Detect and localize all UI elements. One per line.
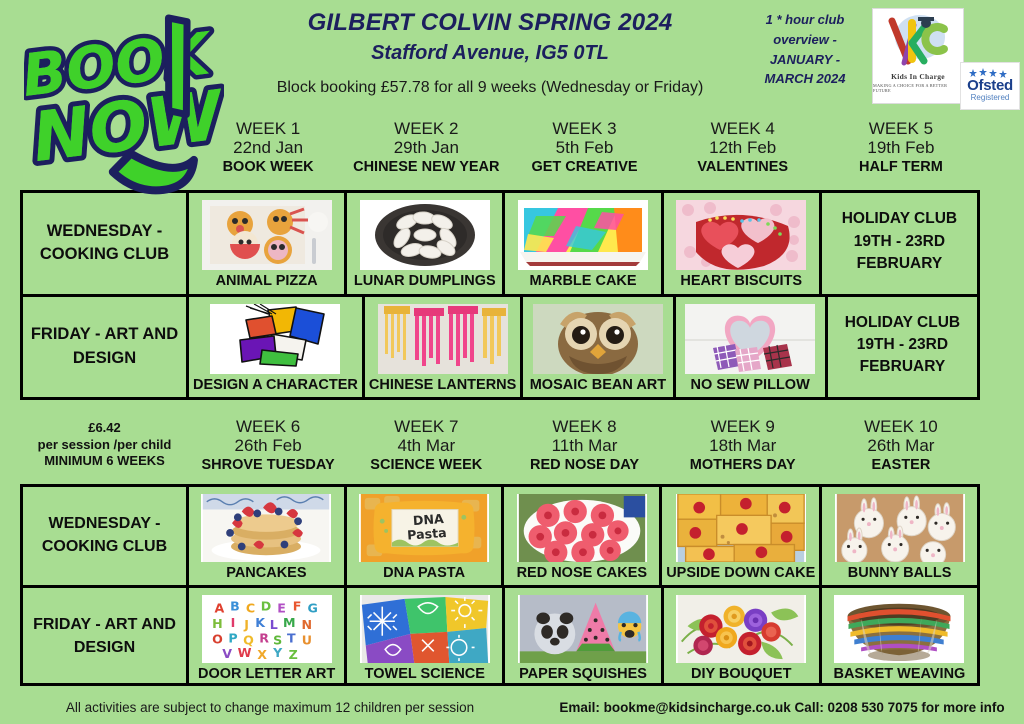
activity-caption: RED NOSE CAKES [517,566,648,582]
svg-text:J: J [243,617,249,632]
week-date: 4th Mar [347,436,505,455]
overview-line-3: JANUARY - [745,50,865,70]
day-label-wednesday: WEDNESDAY - COOKING CLUB [23,193,189,294]
svg-text:W: W [237,645,251,660]
animal-pizza-image [202,200,332,270]
pricing-info: £6.42 per session /per child MINIMUM 6 W… [20,417,189,473]
activity-caption: UPSIDE DOWN CAKE [666,566,815,582]
table-row-friday-2: FRIDAY - ART AND DESIGN AB CD EF G HI JK… [23,588,977,686]
upside-down-cake-image [676,494,806,562]
towel-science-image [360,595,490,663]
week-number: WEEK 10 [822,417,980,436]
week-date: 18th Mar [664,436,822,455]
kic-logo-name: Kids In Charge [891,72,945,81]
activity-cell-pancakes[interactable]: PANCAKES [189,487,347,585]
week-theme: HALF TERM [822,159,980,175]
week-date: 29th Jan [347,138,505,157]
marble-cake-image [518,200,648,270]
block-booking-note: Block booking £57.78 for all 9 weeks (We… [240,78,740,99]
week-theme: EASTER [822,457,980,473]
week-theme: GET CREATIVE [505,159,663,175]
footer-disclaimer: All activities are subject to change max… [0,700,540,715]
svg-text:C: C [245,600,254,615]
paper-squishes-image [518,595,648,663]
price-minimum: MINIMUM 6 WEEKS [20,453,189,470]
activity-cell-dna-pasta[interactable]: DNA Pasta DNA PASTA [347,487,505,585]
activity-cell-bunny-balls[interactable]: BUNNY BALLS [822,487,977,585]
table-row-wednesday-2: WEDNESDAY - COOKING CLUB [23,487,977,588]
svg-text:H: H [212,616,223,631]
week-header-4: WEEK 4 12th Feb VALENTINES [664,119,822,175]
diy-bouquet-image [676,595,806,663]
week-number: WEEK 4 [664,119,822,138]
week-number: WEEK 7 [347,417,505,436]
design-a-character-image [210,304,340,374]
ofsted-registered-label: Registered [971,93,1010,103]
svg-text:G: G [307,600,317,615]
activity-cell-mosaic-bean-art[interactable]: MOSAIC BEAN ART [523,297,675,398]
activity-cell-paper-squishes[interactable]: PAPER SQUISHES [505,588,663,686]
svg-text:B: B [230,598,240,613]
svg-text:M: M [283,615,296,630]
pancakes-image [201,494,331,562]
week-theme: VALENTINES [664,159,822,175]
week-number: WEEK 2 [347,119,505,138]
svg-text:N: N [301,617,312,632]
dna-pasta-image: DNA Pasta [359,494,489,562]
door-letter-art-image: AB CD EF G HI JK LM N OP QR ST U VW XY [202,595,332,663]
activity-caption: PAPER SQUISHES [519,667,647,683]
svg-text:V: V [222,646,232,661]
bunny-balls-image [835,494,965,562]
no-sew-pillow-image [685,304,815,374]
week-theme: RED NOSE DAY [505,457,663,473]
week-number: WEEK 8 [505,417,663,436]
activity-caption: DOOR LETTER ART [198,667,335,683]
heart-biscuits-image [676,200,806,270]
activity-caption: PANCAKES [226,566,306,582]
footer-contact: Email: bookme@kidsincharge.co.uk Call: 0… [540,700,1024,715]
holiday-club-cell-wednesday: HOLIDAY CLUB 19TH - 23RD FEBRUARY [822,193,977,294]
activity-caption: CHINESE LANTERNS [369,378,516,394]
schedule-table-block-2: WEDNESDAY - COOKING CLUB [20,484,980,686]
svg-text:E: E [277,600,286,615]
svg-text:Pasta: Pasta [407,525,447,543]
overview-note: 1 * hour club overview - JANUARY - MARCH… [745,10,865,89]
svg-text:X: X [257,647,267,662]
schedule-table-block-1: WEDNESDAY - COOKING CLUB [20,190,980,400]
red-nose-cakes-image [517,494,647,562]
activity-caption: ANIMAL PIZZA [216,274,318,290]
kids-in-charge-logo: Kids In Charge MAKING A CHOICE FOR A BET… [872,8,964,104]
table-row-friday-1: FRIDAY - ART AND DESIGN [23,297,977,398]
overview-line-2: overview - [745,30,865,50]
activity-caption: MARBLE CAKE [529,274,636,290]
activity-caption: DIY BOUQUET [691,667,791,683]
header-title-block: GILBERT COLVIN SPRING 2024 Stafford Aven… [240,8,740,99]
activity-cell-towel-science[interactable]: TOWEL SCIENCE [347,588,505,686]
week-theme: SHROVE TUESDAY [189,457,347,473]
week-date: 11th Mar [505,436,663,455]
svg-text:P: P [228,631,237,646]
week-number: WEEK 6 [189,417,347,436]
week-theme: CHINESE NEW YEAR [347,159,505,175]
activity-cell-basket-weaving[interactable]: BASKET WEAVING [822,588,977,686]
holiday-club-cell-friday: HOLIDAY CLUB 19TH - 23RD FEBRUARY [828,297,977,398]
week-theme: SCIENCE WEEK [347,457,505,473]
mosaic-bean-art-image [533,304,663,374]
week-header-7: WEEK 7 4th Mar SCIENCE WEEK [347,417,505,473]
activity-cell-design-a-character[interactable]: DESIGN A CHARACTER [189,297,365,398]
week-header-2: WEEK 2 29th Jan CHINESE NEW YEAR [347,119,505,175]
activity-cell-upside-down-cake[interactable]: UPSIDE DOWN CAKE [662,487,822,585]
page-subtitle: Stafford Avenue, IG5 0TL [240,39,740,68]
footer: All activities are subject to change max… [0,700,1024,715]
activity-cell-red-nose-cakes[interactable]: RED NOSE CAKES [504,487,662,585]
activity-cell-marble-cake[interactable]: MARBLE CAKE [505,193,663,294]
activity-caption: MOSAIC BEAN ART [530,378,666,394]
week-theme: MOTHERS DAY [664,457,822,473]
ofsted-registered-badge: Ofsted Registered [960,62,1020,110]
chinese-lanterns-image [378,304,508,374]
svg-text:U: U [301,632,311,647]
activity-cell-lunar-dumplings[interactable]: LUNAR DUMPLINGS [347,193,505,294]
activity-caption: HEART BISCUITS [680,274,802,290]
svg-text:K: K [255,615,266,630]
table-row-wednesday-1: WEDNESDAY - COOKING CLUB [23,193,977,297]
price-per: per session /per child [20,437,189,454]
basket-weaving-image [834,595,964,663]
activity-caption: BASKET WEAVING [833,667,965,683]
svg-text:I: I [230,615,235,630]
price-amount: £6.42 [20,420,189,437]
svg-text:F: F [292,598,301,613]
week-header-6: WEEK 6 26th Feb SHROVE TUESDAY [189,417,347,473]
activity-caption: TOWEL SCIENCE [365,667,485,683]
ofsted-label: Ofsted [967,78,1013,93]
week-header-3: WEEK 3 5th Feb GET CREATIVE [505,119,663,175]
kic-emblem-icon [882,13,954,71]
activity-caption: BUNNY BALLS [848,566,952,582]
svg-text:O: O [212,632,223,647]
activity-cell-door-letter-art[interactable]: AB CD EF G HI JK LM N OP QR ST U VW XY [189,588,347,686]
svg-text:A: A [214,600,224,615]
week-header-10: WEEK 10 26th Mar EASTER [822,417,980,473]
book-now-logo[interactable]: BOOK BOOK NOW NOW [24,4,224,199]
svg-text:Y: Y [272,645,283,660]
kic-logo-tagline: MAKING A CHOICE FOR A BETTER FUTURE [873,83,963,93]
overview-line-1: 1 * hour club [745,10,865,30]
activity-cell-animal-pizza[interactable]: ANIMAL PIZZA [189,193,347,294]
lunar-dumplings-image [360,200,490,270]
day-label-friday: FRIDAY - ART AND DESIGN [23,297,189,398]
week-number: WEEK 9 [664,417,822,436]
svg-text:R: R [259,631,269,646]
activity-cell-no-sew-pillow[interactable]: NO SEW PILLOW [676,297,828,398]
week-date: 12th Feb [664,138,822,157]
activity-caption: NO SEW PILLOW [691,378,810,394]
flyer-page: BOOK BOOK NOW NOW GILBERT COLVIN SPRING … [0,0,1024,724]
svg-text:Z: Z [288,647,297,662]
week-header-8: WEEK 8 11th Mar RED NOSE DAY [505,417,663,473]
activity-caption: DNA PASTA [383,566,465,582]
day-label-friday: FRIDAY - ART AND DESIGN [23,588,189,686]
activity-caption: LUNAR DUMPLINGS [354,274,496,290]
activity-cell-diy-bouquet[interactable]: DIY BOUQUET [664,588,822,686]
svg-text:L: L [269,617,277,632]
overview-line-4: MARCH 2024 [745,69,865,89]
day-label-wednesday: WEDNESDAY - COOKING CLUB [23,487,189,585]
week-date: 26th Mar [822,436,980,455]
activity-cell-chinese-lanterns[interactable]: CHINESE LANTERNS [365,297,523,398]
week-header-row-2: £6.42 per session /per child MINIMUM 6 W… [20,417,980,473]
svg-text:T: T [287,631,296,646]
week-date: 19th Feb [822,138,980,157]
week-number: WEEK 5 [822,119,980,138]
activity-cell-heart-biscuits[interactable]: HEART BISCUITS [664,193,822,294]
book-now-graffiti-icon: BOOK BOOK NOW NOW [24,4,224,199]
week-date: 5th Feb [505,138,663,157]
week-header-9: WEEK 9 18th Mar MOTHERS DAY [664,417,822,473]
week-date: 26th Feb [189,436,347,455]
svg-text:D: D [260,598,270,613]
week-header-5: WEEK 5 19th Feb HALF TERM [822,119,980,175]
week-number: WEEK 3 [505,119,663,138]
page-title: GILBERT COLVIN SPRING 2024 [240,8,740,39]
activity-caption: DESIGN A CHARACTER [193,378,358,394]
